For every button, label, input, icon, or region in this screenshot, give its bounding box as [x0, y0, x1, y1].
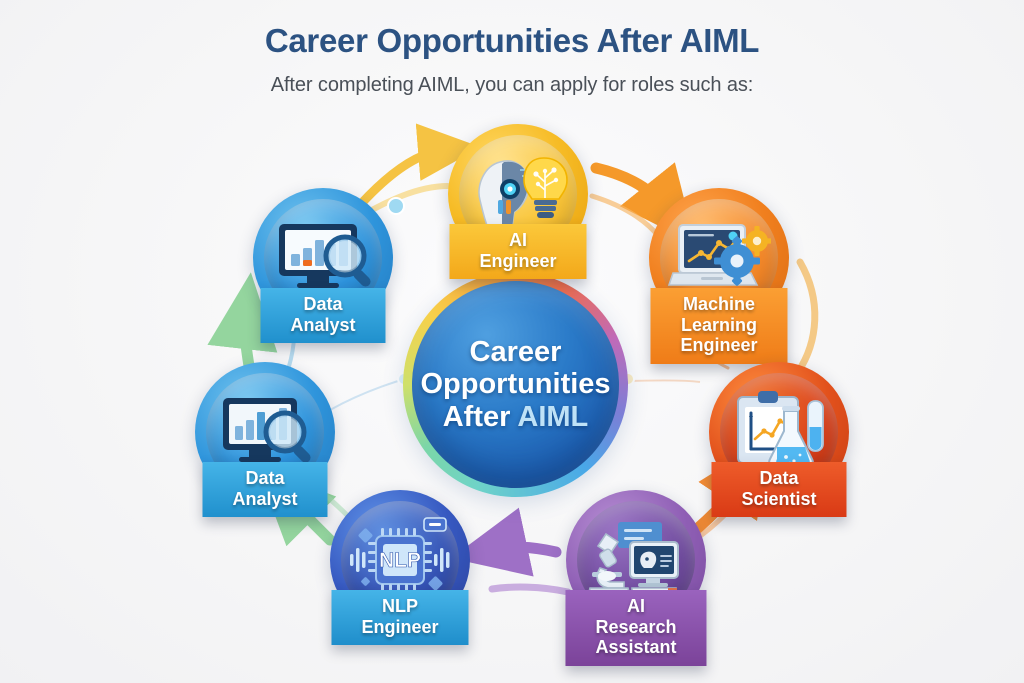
ai-research-assistant-ribbon[interactable]: AI Research Assistant [565, 590, 706, 666]
node-ai-engineer[interactable]: AI Engineer [439, 124, 597, 282]
node-data-scientist[interactable]: Data Scientist [700, 362, 858, 520]
hub-line-2: Opportunities [420, 368, 610, 400]
data-analyst-upper-label: Data Analyst [260, 288, 385, 343]
center-hub-inner: Career Opportunities After AIML [412, 281, 619, 488]
ml-engineer-label-line2: Engineer [680, 335, 757, 356]
data-analyst-lower-label: Data Analyst [202, 462, 327, 517]
hub-line-3: After AIML [420, 401, 610, 433]
hub-line-1: Career [420, 336, 610, 368]
node-machine-learning-engineer[interactable]: Machine Learning Engineer [640, 188, 798, 346]
ml-engineer-label-line1: Machine Learning [680, 294, 757, 335]
node-ai-research-assistant[interactable]: AI Research Assistant [557, 490, 715, 648]
node-data-analyst-lower[interactable]: Data Analyst [186, 362, 344, 520]
data-scientist-ribbon[interactable]: Data Scientist [711, 462, 846, 517]
infographic-canvas: Career Opportunities After AIML After co… [0, 0, 1024, 683]
center-hub-text: Career Opportunities After AIML [406, 336, 624, 433]
ai-research-assistant-label: AI Research Assistant [565, 590, 706, 666]
node-data-analyst-upper[interactable]: Data Analyst [244, 188, 402, 346]
hub-line-3-accent: AIML [517, 401, 588, 433]
data-analyst-lower-ribbon[interactable]: Data Analyst [202, 462, 327, 517]
ai-engineer-label: AI Engineer [449, 224, 586, 279]
ml-engineer-ribbon[interactable]: Machine Learning Engineer [650, 288, 787, 364]
ai-engineer-ribbon[interactable]: AI Engineer [449, 224, 586, 279]
node-nlp-engineer[interactable]: NLP [321, 490, 479, 648]
nlp-engineer-label: NLP Engineer [331, 590, 468, 645]
center-hub: Career Opportunities After AIML [403, 272, 628, 497]
data-scientist-label: Data Scientist [711, 462, 846, 517]
svg-text:NLP: NLP [379, 549, 421, 572]
ml-engineer-label: Machine Learning Engineer [650, 288, 787, 364]
data-analyst-upper-ribbon[interactable]: Data Analyst [260, 288, 385, 343]
hub-line-3-prefix: After [443, 401, 518, 433]
nlp-engineer-ribbon[interactable]: NLP Engineer [331, 590, 468, 645]
